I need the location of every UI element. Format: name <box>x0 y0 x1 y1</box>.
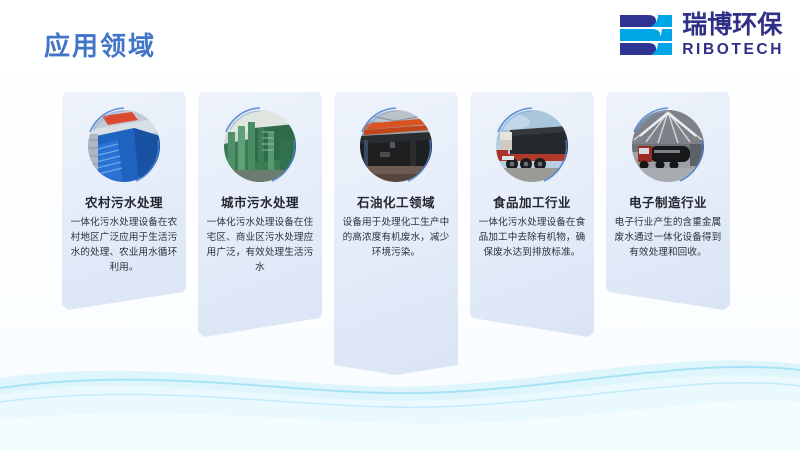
thumbnail-arc-ring-icon <box>492 106 572 186</box>
card-description: 电子行业产生的含重金属废水通过一体化设备得到有效处理和回收。 <box>613 216 723 261</box>
application-card[interactable]: 食品加工行业 一体化污水处理设备在食品加工中去除有机物，确保废水达到排放标准。 <box>470 92 594 337</box>
slide-root: 应用领域 瑞博环保 RIBOTECH <box>0 0 800 450</box>
logo-text-block: 瑞博环保 RIBOTECH <box>682 13 784 58</box>
thumbnail-arc-ring-icon <box>356 106 436 186</box>
card-thumbnail <box>492 106 572 186</box>
card-description: 一体化污水处理设备在农村地区广泛应用于生活污水的处理、农业用水循环利用。 <box>69 216 179 275</box>
application-card[interactable]: 农村污水处理 一体化污水处理设备在农村地区广泛应用于生活污水的处理、农业用水循环… <box>62 92 186 310</box>
card-title: 电子制造行业 <box>606 192 730 211</box>
card-description: 设备用于处理化工生产中的高浓度有机废水，减少环境污染。 <box>341 216 451 261</box>
card-description: 一体化污水处理设备在住宅区、商业区污水处理应用广泛，有效处理生活污水 <box>205 216 315 275</box>
thumbnail-arc-ring-icon <box>628 106 708 186</box>
company-logo: 瑞博环保 RIBOTECH <box>618 12 784 58</box>
logo-name-cn: 瑞博环保 <box>682 13 784 38</box>
card-thumbnail <box>628 106 708 186</box>
card-title: 食品加工行业 <box>470 192 594 211</box>
application-card[interactable]: 石油化工领域 设备用于处理化工生产中的高浓度有机废水，减少环境污染。 <box>334 92 458 375</box>
application-cards-row: 农村污水处理 一体化污水处理设备在农村地区广泛应用于生活污水的处理、农业用水循环… <box>0 92 800 392</box>
thumbnail-arc-ring-icon <box>220 106 300 186</box>
card-title: 城市污水处理 <box>198 192 322 211</box>
card-title: 石油化工领域 <box>334 192 458 211</box>
card-thumbnail <box>356 106 436 186</box>
logo-name-en: RIBOTECH <box>682 42 784 58</box>
thumbnail-arc-ring-icon <box>84 106 164 186</box>
application-card[interactable]: 城市污水处理 一体化污水处理设备在住宅区、商业区污水处理应用广泛，有效处理生活污… <box>198 92 322 337</box>
ribotech-wave-mark-icon <box>618 12 674 58</box>
card-thumbnail <box>84 106 164 186</box>
card-title: 农村污水处理 <box>62 192 186 211</box>
card-description: 一体化污水处理设备在食品加工中去除有机物，确保废水达到排放标准。 <box>477 216 587 261</box>
page-title: 应用领域 <box>44 26 156 63</box>
application-card[interactable]: 电子制造行业 电子行业产生的含重金属废水通过一体化设备得到有效处理和回收。 <box>606 92 730 310</box>
card-thumbnail <box>220 106 300 186</box>
